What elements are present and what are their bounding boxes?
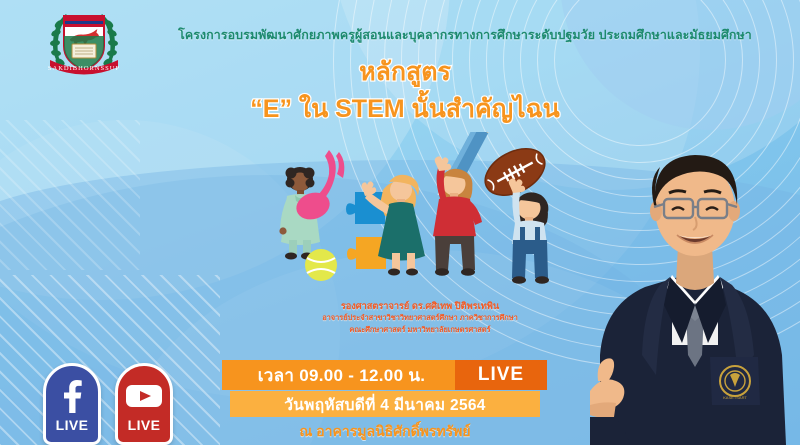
facebook-icon (59, 377, 85, 415)
time-bar: เวลา 09.00 - 12.00 น. LIVE (222, 360, 547, 390)
facebook-live-label: LIVE (56, 417, 89, 433)
speaker-portrait: KASETSART (590, 105, 800, 445)
poster-title: หลักสูตร “E” ใน STEM นั้นสำคัญไฉน (170, 58, 640, 128)
title-line-1: หลักสูตร (170, 58, 640, 87)
children-illustration (243, 132, 568, 297)
sakdibhornssup-logo: SAKDIBHORNSSUP (36, 6, 132, 80)
speaker-info: รองศาสตราจารย์ ดร.ศศิเทพ ปิติพรเทพิน อาจ… (255, 300, 585, 335)
date-bar: วันพฤหัสบดีที่ 4 มีนาคม 2564 (230, 391, 540, 417)
background-stripe-pattern (0, 120, 140, 270)
youtube-live-label: LIVE (128, 417, 161, 433)
title-line-2: “E” ใน STEM นั้นสำคัญไฉน (170, 91, 640, 129)
live-chip: LIVE (455, 360, 547, 390)
webinar-poster: SAKDIBHORNSSUP โครงการอบรมพัฒนาศักยภาพคร… (0, 0, 800, 445)
child-figure-3 (433, 156, 482, 275)
time-text: เวลา 09.00 - 12.00 น. (222, 362, 455, 389)
svg-text:KASETSART: KASETSART (723, 395, 747, 400)
speaker-name: รองศาสตราจารย์ ดร.ศศิเทพ ปิติพรเทพิน (255, 300, 585, 312)
youtube-live-badge[interactable]: LIVE (115, 363, 173, 445)
logo-banner-text: SAKDIBHORNSSUP (48, 65, 120, 72)
youtube-icon (125, 377, 163, 415)
venue-text: ณ อาคารมูลนิธิศักดิ์พรทรัพย์ (230, 421, 540, 443)
facebook-live-badge[interactable]: LIVE (43, 363, 101, 445)
tennis-ball-icon (305, 249, 337, 281)
date-text: วันพฤหัสบดีที่ 4 มีนาคม 2564 (284, 392, 485, 417)
live-platform-badges: LIVE LIVE (43, 363, 173, 445)
child-figure-4 (509, 178, 549, 283)
program-header-text: โครงการอบรมพัฒนาศักยภาพครูผู้สอนและบุคลา… (150, 26, 780, 45)
speaker-affiliation-2: คณะศึกษาศาสตร์ มหาวิทยาลัยเกษตรศาสตร์ (255, 324, 585, 335)
speaker-affiliation-1: อาจารย์ประจำสาขาวิชาวิทยาศาสตร์ศึกษา ภาค… (255, 312, 585, 323)
